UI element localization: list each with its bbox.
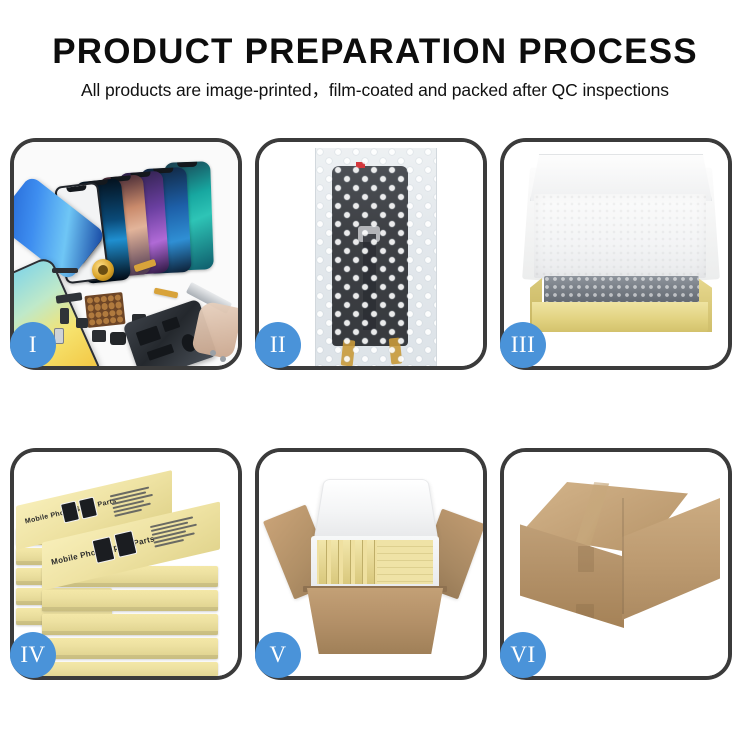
connector-part-3 (76, 318, 88, 328)
screw (117, 316, 124, 323)
screw (101, 296, 108, 303)
step-badge-4: IV (10, 632, 56, 678)
screw (94, 304, 101, 311)
loose-screw (220, 356, 226, 362)
screw (116, 309, 123, 316)
yellow-box-edge (367, 540, 375, 584)
carton-scuff (578, 546, 594, 572)
screw-tray-part (84, 292, 125, 328)
box-edge (42, 631, 218, 635)
process-step-panel-2: II (255, 138, 487, 370)
foam-lid (313, 479, 438, 543)
chip (162, 317, 181, 333)
box-front-panel (532, 302, 708, 332)
screw (96, 318, 103, 325)
screw (103, 317, 110, 324)
yellow-box-edge (343, 540, 351, 584)
screw (108, 302, 115, 309)
screw (109, 309, 116, 316)
process-step-panel-4: Mobile Phone Spare Parts Mobile Phone Sp… (10, 448, 242, 680)
step-badge-2: II (255, 322, 301, 368)
connector-part-2 (60, 308, 69, 324)
yellow-box-edge (331, 540, 339, 584)
step-badge-6: VI (500, 632, 546, 678)
box-edge (42, 655, 218, 659)
step-badge-5: V (255, 632, 301, 678)
screw (114, 294, 121, 301)
bubble-wrap-bag (315, 148, 437, 366)
screw (87, 304, 94, 311)
stacked-box (42, 638, 218, 659)
screw (110, 317, 117, 324)
stacked-box (42, 662, 218, 676)
carton-body (301, 588, 449, 654)
step-badge-1: I (10, 322, 56, 368)
screw (95, 311, 102, 318)
phone-notch (177, 162, 197, 168)
process-step-panel-6: VI (500, 448, 732, 680)
screw (115, 302, 122, 309)
screw (102, 310, 109, 317)
foam-sheet (534, 194, 706, 278)
bubble-texture (316, 148, 436, 366)
screw (88, 312, 95, 319)
process-step-panel-5: V (255, 448, 487, 680)
box-edge (42, 607, 218, 611)
phone-notch (66, 185, 86, 192)
speaker-part (92, 330, 106, 342)
foam-texture (534, 194, 706, 278)
process-step-panel-3: III (500, 138, 732, 370)
loose-screw (210, 350, 216, 356)
stacked-box (42, 590, 218, 611)
stacked-box (42, 614, 218, 635)
process-step-panel-1: I (10, 138, 242, 370)
yellow-box-edge (355, 540, 363, 584)
screw (101, 303, 108, 310)
yellow-box-edge (319, 540, 327, 584)
chip (136, 326, 161, 346)
screw (89, 319, 96, 326)
step-badge-3: III (500, 322, 546, 368)
camera-module-part (110, 332, 126, 345)
page-subtitle: All products are image-printed，film-coat… (0, 77, 750, 103)
packed-yellow-boxes (317, 540, 433, 584)
chip (147, 344, 175, 361)
process-step-grid: I II (10, 138, 740, 690)
page-header: PRODUCT PREPARATION PROCESS All products… (0, 0, 750, 103)
screw (87, 297, 94, 304)
yellow-box-stack-flat (377, 540, 433, 584)
screw (94, 296, 101, 303)
page-title: PRODUCT PREPARATION PROCESS (0, 30, 750, 74)
carton-corner-seam (622, 498, 624, 614)
screw (108, 295, 115, 302)
flex-strip-part (52, 268, 78, 273)
speaker-coil-part (92, 259, 114, 281)
